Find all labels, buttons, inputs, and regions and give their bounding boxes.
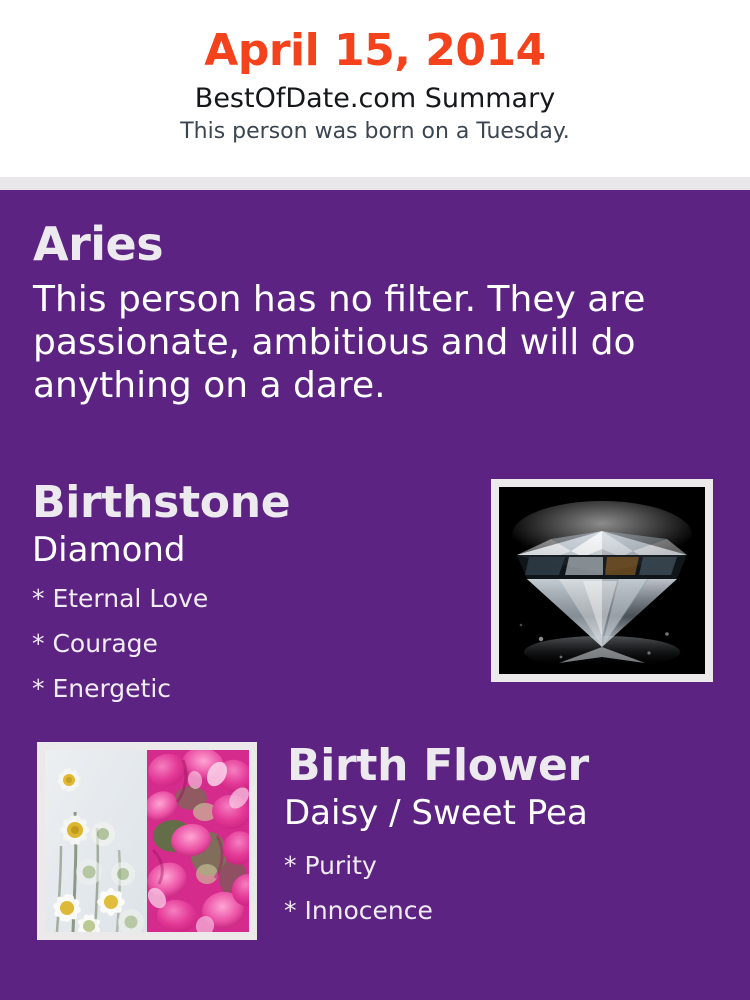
birth-flower-heading: Birth Flower bbox=[287, 740, 734, 792]
daisy-sweet-pea-photo bbox=[45, 750, 249, 932]
birthstone-name: Diamond bbox=[32, 529, 472, 570]
birth-flower-name: Daisy / Sweet Pea bbox=[284, 792, 734, 833]
zodiac-sign-name: Aries bbox=[33, 216, 673, 272]
page-title-date: April 15, 2014 bbox=[0, 0, 750, 76]
diamond-illustration bbox=[499, 487, 705, 674]
zodiac-section: Aries This person has no filter. They ar… bbox=[33, 216, 673, 407]
page-header: April 15, 2014 BestOfDate.com Summary Th… bbox=[0, 0, 750, 177]
daisy-photo-half bbox=[45, 750, 147, 932]
list-item: * Eternal Love bbox=[32, 576, 472, 621]
birth-flower-trait-list: * Purity * Innocence bbox=[284, 833, 734, 933]
born-day-text: This person was born on a Tuesday. bbox=[0, 115, 750, 146]
zodiac-description: This person has no filter. They are pass… bbox=[33, 272, 653, 407]
daisy-illustration bbox=[45, 750, 147, 932]
list-item: * Energetic bbox=[32, 666, 472, 711]
diamond-photo bbox=[499, 487, 705, 674]
birthstone-heading: Birthstone bbox=[32, 477, 472, 529]
list-item: * Courage bbox=[32, 621, 472, 666]
summary-page: April 15, 2014 BestOfDate.com Summary Th… bbox=[0, 0, 750, 1000]
birth-flower-image-frame bbox=[37, 742, 257, 940]
birthstone-image-frame bbox=[491, 479, 713, 682]
sweet-pea-illustration bbox=[147, 750, 249, 932]
birthstone-section: Birthstone Diamond * Eternal Love * Cour… bbox=[32, 477, 472, 711]
header-divider bbox=[0, 177, 750, 190]
birth-flower-section: Birth Flower Daisy / Sweet Pea * Purity … bbox=[284, 740, 734, 933]
sweet-pea-photo-half bbox=[147, 750, 249, 932]
list-item: * Innocence bbox=[284, 888, 734, 933]
list-item: * Purity bbox=[284, 843, 734, 888]
site-name-subtitle: BestOfDate.com Summary bbox=[0, 76, 750, 115]
birthstone-trait-list: * Eternal Love * Courage * Energetic bbox=[32, 570, 472, 711]
